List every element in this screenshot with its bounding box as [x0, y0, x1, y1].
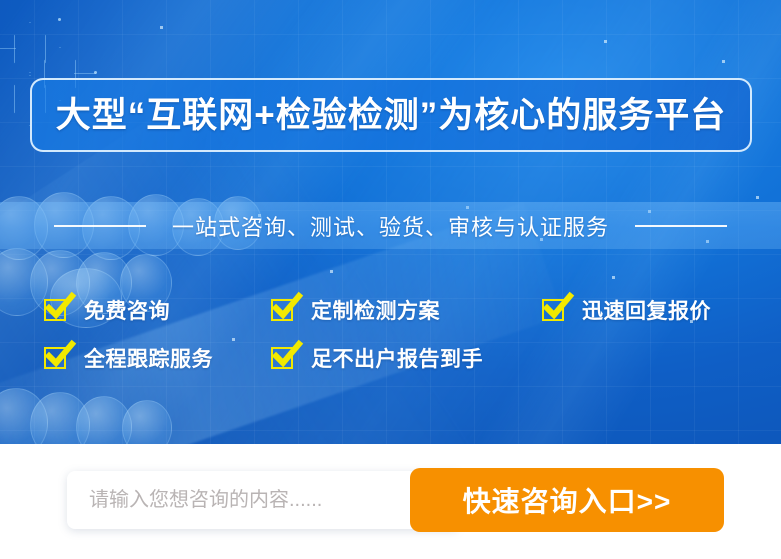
search-section: 快速咨询入口>> — [0, 444, 781, 559]
subtitle-text: 一站式咨询、测试、验货、审核与认证服务 — [172, 210, 609, 242]
circuit-line — [0, 48, 16, 49]
sparkle-decoration — [330, 270, 333, 273]
feature-item-full-tracking[interactable]: 全程跟踪服务 — [44, 334, 213, 382]
feature-item-free-consult[interactable]: 免费咨询 — [44, 286, 170, 334]
page-title: 大型“互联网+检验检测”为核心的服务平台 — [56, 98, 726, 133]
hero-background: 大型“互联网+检验检测”为核心的服务平台 一站式咨询、测试、验货、审核与认证服务… — [0, 0, 781, 444]
check-icon — [44, 299, 66, 321]
subtitle-row: 一站式咨询、测试、验货、审核与认证服务 — [0, 202, 781, 249]
sparkle-decoration — [756, 196, 759, 199]
feature-row: 免费咨询 定制检测方案 迅速回复 — [0, 286, 781, 334]
sparkle-decoration — [160, 26, 163, 29]
check-icon — [271, 299, 293, 321]
feature-item-fast-quote[interactable]: 迅速回复报价 — [542, 286, 711, 334]
sparkle-decoration — [612, 276, 615, 279]
promo-banner: 大型“互联网+检验检测”为核心的服务平台 一站式咨询、测试、验货、审核与认证服务… — [0, 0, 781, 559]
feature-item-custom-testing[interactable]: 定制检测方案 — [271, 286, 440, 334]
quick-consult-button[interactable]: 快速咨询入口>> — [410, 468, 724, 532]
feature-list: 免费咨询 定制检测方案 迅速回复 — [0, 286, 781, 382]
circuit-dot — [94, 71, 97, 74]
feature-label: 定制检测方案 — [311, 295, 440, 325]
check-icon — [271, 347, 293, 369]
circuit-line — [74, 73, 96, 74]
check-icon — [542, 299, 564, 321]
feature-row: 全程跟踪服务 足不出户报告到手 — [0, 334, 781, 382]
feature-label: 免费咨询 — [84, 295, 170, 325]
headline-box: 大型“互联网+检验检测”为核心的服务平台 — [30, 78, 752, 152]
search-input[interactable] — [67, 471, 457, 529]
divider-dash-left — [54, 225, 146, 227]
feature-label: 迅速回复报价 — [582, 295, 711, 325]
circuit-dot — [58, 18, 61, 21]
sparkle-decoration — [722, 60, 725, 63]
check-icon — [44, 347, 66, 369]
feature-item-report-at-home[interactable]: 足不出户报告到手 — [271, 334, 483, 382]
feature-label: 全程跟踪服务 — [84, 343, 213, 373]
feature-label: 足不出户报告到手 — [311, 343, 483, 373]
sparkle-decoration — [604, 40, 607, 43]
divider-dash-right — [635, 225, 727, 227]
